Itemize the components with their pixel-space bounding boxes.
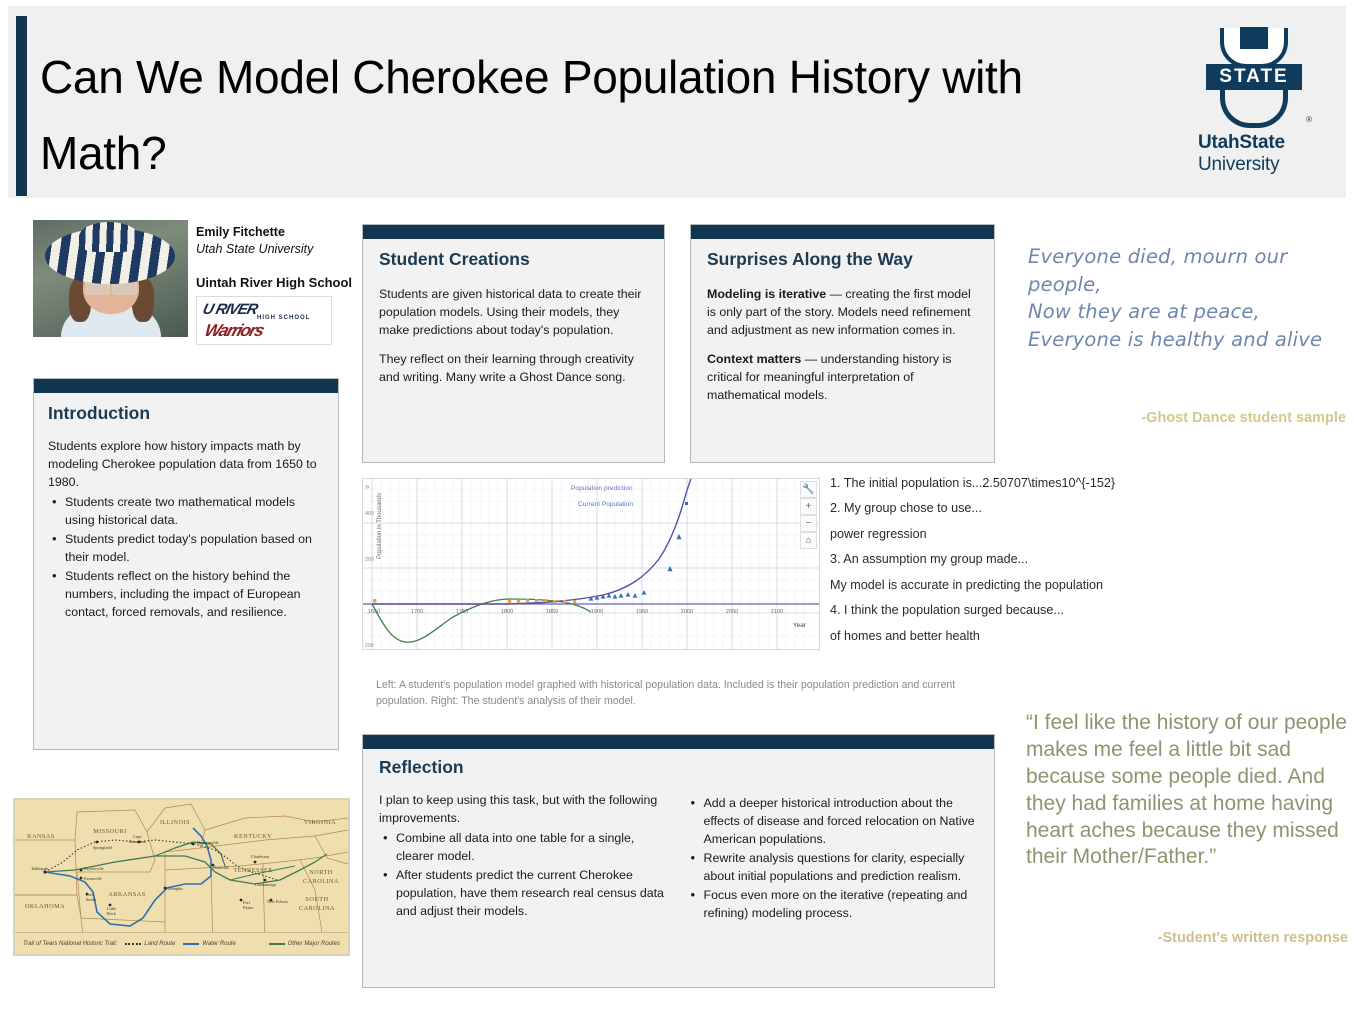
list-item: Students reflect on the history behind t…: [48, 568, 324, 622]
svg-text:OKLAHOMA: OKLAHOMA: [25, 903, 65, 910]
paragraph: Context matters — understanding history …: [707, 351, 978, 405]
analysis-line: 1. The initial population is...2.50707\t…: [830, 476, 1230, 490]
author-affiliation: Utah State University: [196, 242, 313, 256]
svg-text:Payne: Payne: [243, 905, 253, 910]
svg-text:1850: 1850: [546, 609, 558, 615]
svg-text:1950: 1950: [636, 609, 648, 615]
svg-text:Tahlequah: Tahlequah: [31, 866, 49, 871]
reflection-left-column: Reflection I plan to keep using this tas…: [379, 757, 669, 924]
header-accent-bar: [16, 16, 27, 196]
population-chart[interactable]: Population prediction Current Population…: [362, 478, 820, 650]
school-logo-bottom-text: Warriors: [202, 321, 265, 341]
paragraph: Students are given historical data to cr…: [379, 286, 648, 340]
analysis-line: of homes and better health: [830, 629, 1230, 643]
section-header-bar: [691, 225, 994, 239]
section-reflection: Reflection I plan to keep using this tas…: [362, 734, 995, 988]
svg-text:TENNESSEE: TENNESSEE: [233, 867, 272, 874]
trail-of-tears-map: KANSAS MISSOURI ILLINOIS KENTUCKY VIRGIN…: [13, 798, 350, 956]
svg-text:CAROLINA: CAROLINA: [299, 905, 335, 912]
ghost-dance-quote-attribution: -Ghost Dance student sample: [1016, 410, 1346, 426]
reflection-intro-text: I plan to keep using this task, but with…: [379, 792, 669, 828]
svg-text:KENTUCKY: KENTUCKY: [234, 833, 272, 840]
other-routes-icon: [269, 943, 285, 945]
svg-text:2100: 2100: [771, 609, 783, 615]
svg-text:2050: 2050: [726, 609, 738, 615]
chart-ytick-400: 400: [365, 511, 374, 517]
home-icon[interactable]: ⌂: [800, 532, 817, 549]
svg-text:Chattanooga: Chattanooga: [255, 882, 276, 887]
school-name: Uintah River High School: [196, 275, 352, 290]
introduction-intro-text: Students explore how history impacts mat…: [48, 438, 324, 492]
registered-mark-icon: ®: [1306, 115, 1312, 124]
water-route-icon: [183, 943, 199, 945]
reflection-title: Reflection: [379, 757, 669, 778]
svg-text:VIRGINIA: VIRGINIA: [304, 819, 336, 826]
usu-logo: STATE ® UtahState University: [1198, 28, 1318, 180]
svg-text:CAROLINA: CAROLINA: [303, 878, 339, 885]
list-item: Combine all data into one table for a si…: [379, 830, 669, 866]
svg-text:Memphis: Memphis: [167, 886, 183, 891]
surprise-lead: Modeling is iterative: [707, 287, 826, 301]
legend-population-prediction: Population prediction: [571, 485, 633, 492]
usu-logo-mark: STATE ®: [1198, 28, 1310, 128]
figure-caption: Left: A student's population model graph…: [376, 678, 996, 710]
student-written-quote-attribution: -Student's written response: [1008, 930, 1348, 946]
introduction-bullet-list: Students create two mathematical models …: [48, 494, 324, 622]
usu-u-top-shape: [1220, 28, 1288, 68]
reflection-bullet-list-left: Combine all data into one table for a si…: [379, 830, 669, 921]
chevron-right-icon: »: [365, 482, 370, 491]
map-legend-water-route: Water Route: [183, 941, 236, 947]
chart-y-axis-label: Population in Thousands: [377, 493, 383, 559]
list-item: Rewrite analysis questions for clarity, …: [687, 850, 979, 886]
wrench-icon[interactable]: 🔧: [800, 481, 817, 498]
ghost-dance-quote: Everyone died, mourn our people, Now the…: [1028, 243, 1346, 354]
poster-root: Can We Model Cherokee Population History…: [0, 0, 1354, 1026]
paragraph: They reflect on their learning through c…: [379, 351, 648, 387]
introduction-body: Students explore how history impacts mat…: [48, 438, 324, 622]
map-legend: Trail of Tears National Historic Trail: …: [15, 932, 348, 954]
svg-text:Nashville: Nashville: [213, 865, 229, 870]
analysis-line: 4. I think the population surged because…: [830, 603, 1230, 617]
svg-text:1750: 1750: [456, 609, 468, 615]
svg-text:MISSOURI: MISSOURI: [93, 828, 127, 835]
map-legend-other-routes: Other Major Routes: [269, 941, 340, 947]
svg-text:Smith: Smith: [86, 897, 97, 902]
svg-text:KANSAS: KANSAS: [27, 833, 55, 840]
author-portrait-photo: [33, 220, 188, 337]
svg-text:Springfield: Springfield: [93, 845, 113, 850]
usu-wordmark-line2: University: [1198, 154, 1279, 176]
map-legend-label: Land Route: [144, 941, 175, 947]
paragraph: Modeling is iterative — creating the fir…: [707, 286, 978, 340]
section-student-creations: Student Creations Students are given his…: [362, 224, 665, 463]
portrait-hat-crown: [79, 222, 139, 252]
introduction-title: Introduction: [48, 403, 324, 424]
analysis-line: My model is accurate in predicting the p…: [830, 578, 1230, 592]
usu-state-text: STATE: [1206, 64, 1302, 90]
chart-ytick-neg200: -200: [363, 643, 374, 649]
svg-text:1650: 1650: [368, 609, 380, 615]
legend-current-population: Current Population: [578, 501, 633, 508]
school-logo-top-text: U RIVER: [201, 301, 259, 318]
zoom-in-icon[interactable]: +: [800, 498, 817, 515]
svg-text:Girardeau: Girardeau: [129, 839, 147, 844]
section-header-bar: [34, 379, 338, 393]
svg-text:SOUTH: SOUTH: [305, 896, 328, 903]
map-legend-label: Water Route: [202, 941, 236, 947]
section-header-bar: [363, 735, 994, 749]
surprises-body: Modeling is iterative — creating the fir…: [707, 286, 978, 405]
map-legend-label: Other Major Routes: [288, 941, 340, 947]
surprises-title: Surprises Along the Way: [707, 249, 978, 270]
section-surprises: Surprises Along the Way Modeling is iter…: [690, 224, 995, 463]
figure-student-model: Population prediction Current Population…: [362, 478, 998, 726]
surprise-lead: Context matters: [707, 352, 801, 366]
reflection-bullet-list-right: Add a deeper historical introduction abo…: [687, 795, 979, 923]
analysis-line: 2. My group chose to use...: [830, 501, 1230, 515]
svg-text:Hopkinsville: Hopkinsville: [197, 840, 219, 845]
list-item: Students predict today's population base…: [48, 531, 324, 567]
svg-text:2000: 2000: [681, 609, 693, 615]
student-creations-body: Students are given historical data to cr…: [379, 286, 648, 387]
legend-swatch-current: [685, 502, 688, 505]
svg-text:Fayetteville: Fayetteville: [84, 866, 104, 871]
svg-text:NORTH: NORTH: [309, 869, 332, 876]
svg-text:1800: 1800: [501, 609, 513, 615]
poster-header: Can We Model Cherokee Population History…: [8, 6, 1346, 198]
student-written-quote: “I feel like the history of our people m…: [1026, 710, 1348, 871]
chart-x-axis-label: Year: [793, 622, 807, 629]
reflection-right-column: Add a deeper historical introduction abo…: [687, 757, 979, 924]
list-item: Focus even more on the iterative (repeat…: [687, 887, 979, 923]
svg-text:ILLINOIS: ILLINOIS: [160, 819, 190, 826]
section-introduction: Introduction Students explore how histor…: [33, 378, 339, 750]
student-creations-title: Student Creations: [379, 249, 648, 270]
student-analysis-panel: 1. The initial population is...2.50707\t…: [830, 476, 1230, 654]
reflection-body-right: Add a deeper historical introduction abo…: [687, 795, 979, 923]
map-legend-land-route: Land Route: [125, 941, 175, 947]
chart-svg: Population prediction Current Population…: [363, 479, 819, 649]
usu-wordmark-line1: UtahState: [1198, 132, 1285, 154]
svg-text:1900: 1900: [591, 609, 603, 615]
zoom-out-icon[interactable]: −: [800, 515, 817, 532]
analysis-line: power regression: [830, 527, 1230, 541]
list-item: Students create two mathematical models …: [48, 494, 324, 530]
map-legend-title: Trail of Tears National Historic Trail:: [23, 941, 117, 947]
page-title: Can We Model Cherokee Population History…: [40, 40, 1040, 192]
usu-u-bottom-shape: [1220, 88, 1288, 128]
svg-text:New Echota: New Echota: [267, 899, 288, 904]
land-route-icon: [125, 943, 141, 945]
list-item: After students predict the current Chero…: [379, 867, 669, 921]
svg-text:1700: 1700: [411, 609, 423, 615]
reflection-body-left: I plan to keep using this task, but with…: [379, 792, 669, 921]
svg-text:Evansville: Evansville: [84, 876, 102, 881]
svg-text:ARKANSAS: ARKANSAS: [108, 891, 145, 898]
list-item: Add a deeper historical introduction abo…: [687, 795, 979, 849]
svg-text:Rock: Rock: [107, 911, 117, 916]
analysis-line: 3. An assumption my group made...: [830, 552, 1230, 566]
map-svg: KANSAS MISSOURI ILLINOIS KENTUCKY VIRGIN…: [15, 800, 348, 954]
section-header-bar: [363, 225, 664, 239]
author-name: Emily Fitchette: [196, 225, 285, 239]
school-logo: U RIVER HIGH SCHOOL Warriors: [196, 296, 332, 345]
svg-text:Charleston: Charleston: [251, 854, 270, 859]
chart-ytick-200: 200: [365, 557, 374, 563]
chart-toolbar[interactable]: 🔧 + − ⌂: [800, 481, 817, 549]
